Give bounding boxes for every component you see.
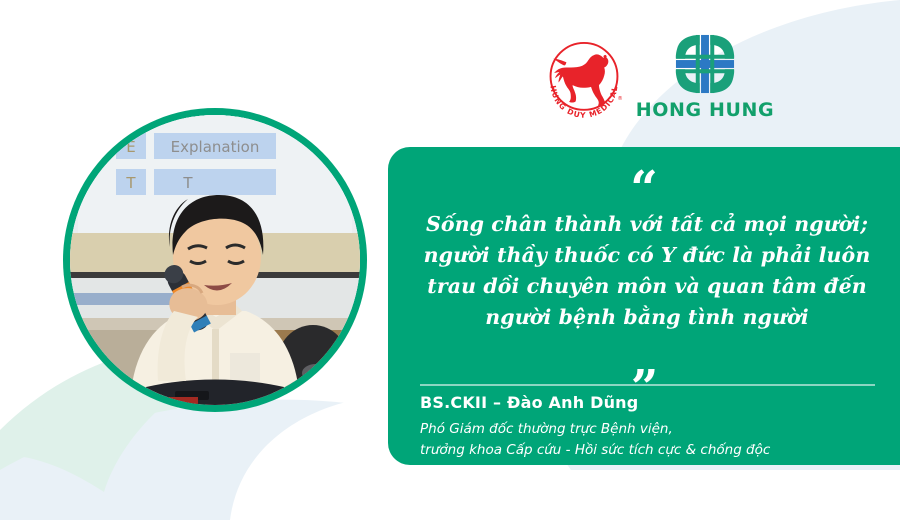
quote-line: trau dồi chuyên môn và quan tâm đến <box>420 271 874 302</box>
quote-text: Sống chân thành với tất cả mọi người; ng… <box>420 209 874 334</box>
speaker-photo-illustration: E Explanation T T <box>70 115 360 405</box>
logo-row: HUNG DUY MEDICAL ® <box>540 28 790 130</box>
quote-panel: “ Sống chân thành với tất cả mọi người; … <box>388 147 900 465</box>
quote-line: người thầy thuốc có Y đức là phải luôn <box>420 240 874 271</box>
svg-text:Explanation: Explanation <box>171 138 260 156</box>
attribution-divider <box>420 384 875 386</box>
attribution-role-line: Phó Giám đốc thường trực Bệnh viện, <box>420 419 880 440</box>
quote-open-mark: “ <box>388 165 900 213</box>
quote-line: Sống chân thành với tất cả mọi người; <box>420 209 874 240</box>
attribution-role-line: trưởng khoa Cấp cứu - Hồi sức tích cực &… <box>420 440 880 461</box>
registered-mark: ® <box>617 95 622 102</box>
attribution-name: BS.CKII – Đào Anh Dũng <box>420 393 880 412</box>
attribution-role: Phó Giám đốc thường trực Bệnh viện, trưở… <box>420 419 880 462</box>
hong-hung-wordmark: HONG HUNG <box>636 99 774 121</box>
svg-text:HUNG DUY MEDICAL: HUNG DUY MEDICAL <box>548 85 619 120</box>
hung-duy-logo: HUNG DUY MEDICAL ® <box>540 35 628 123</box>
svg-text:T: T <box>125 174 136 192</box>
speaker-photo-ring: E Explanation T T <box>63 108 367 412</box>
hong-hung-logo: HONG HUNG <box>646 31 764 127</box>
quote-line: người bệnh bằng tình người <box>420 302 874 333</box>
svg-text:E: E <box>126 138 135 156</box>
attribution-block: BS.CKII – Đào Anh Dũng Phó Giám đốc thườ… <box>420 393 880 462</box>
red-horse-circle-logo: HUNG DUY MEDICAL ® <box>540 35 628 123</box>
hong-hung-emblem-icon <box>672 31 738 97</box>
quote-close-mark: “ <box>388 339 900 387</box>
speaker-photo: E Explanation T T <box>70 115 360 405</box>
quote-card-graphic: HUNG DUY MEDICAL ® <box>0 0 900 520</box>
svg-text:T: T <box>182 174 193 192</box>
